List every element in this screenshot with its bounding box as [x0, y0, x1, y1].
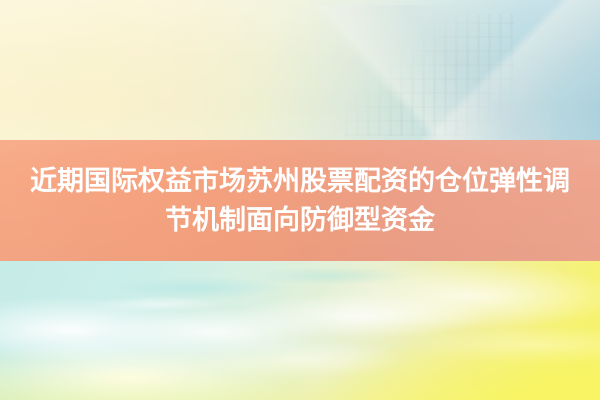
- headline-band: 近期国际权益市场苏州股票配资的仓位弹性调节机制面向防御型资金: [0, 140, 600, 261]
- banner-image: 近期国际权益市场苏州股票配资的仓位弹性调节机制面向防御型资金: [0, 0, 600, 400]
- headline-text: 近期国际权益市场苏州股票配资的仓位弹性调节机制面向防御型资金: [14, 162, 586, 240]
- yellow-sun-glow: [0, 260, 600, 400]
- top-gradient-region: [0, 0, 600, 142]
- bottom-cloud-region: [0, 260, 600, 400]
- building-window-grid-icon: [345, 14, 515, 136]
